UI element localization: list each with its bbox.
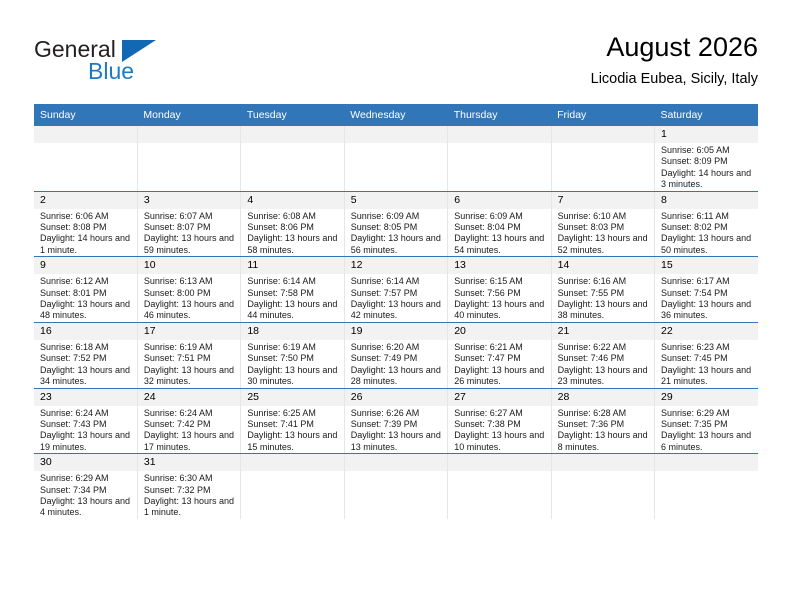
- day-number: 18: [241, 323, 343, 340]
- day-number: 12: [345, 257, 447, 274]
- calendar-week-row: 30Sunrise: 6:29 AMSunset: 7:34 PMDayligh…: [34, 454, 758, 519]
- sunset-text: Sunset: 7:49 PM: [351, 353, 443, 364]
- calendar-day-cell-empty: [34, 126, 137, 191]
- sunset-text: Sunset: 7:54 PM: [661, 288, 754, 299]
- weekday-header-saturday: Saturday: [655, 104, 758, 126]
- calendar-day-cell[interactable]: 14Sunrise: 6:16 AMSunset: 7:55 PMDayligh…: [551, 257, 654, 323]
- sunrise-text: Sunrise: 6:06 AM: [40, 211, 133, 222]
- calendar-day-cell[interactable]: 13Sunrise: 6:15 AMSunset: 7:56 PMDayligh…: [448, 257, 551, 323]
- day-number: 1: [655, 126, 758, 143]
- daylight-text: Daylight: 13 hours and 42 minutes.: [351, 299, 443, 322]
- sunset-text: Sunset: 8:07 PM: [144, 222, 236, 233]
- calendar-day-cell-empty: [241, 454, 344, 519]
- calendar-day-cell-empty: [344, 126, 447, 191]
- calendar-week-row: 1Sunrise: 6:05 AMSunset: 8:09 PMDaylight…: [34, 126, 758, 191]
- day-details: Sunrise: 6:16 AMSunset: 7:55 PMDaylight:…: [552, 274, 654, 322]
- sunrise-text: Sunrise: 6:20 AM: [351, 342, 443, 353]
- sunset-text: Sunset: 8:04 PM: [454, 222, 546, 233]
- sunrise-text: Sunrise: 6:17 AM: [661, 276, 754, 287]
- calendar-day-cell-empty: [137, 126, 240, 191]
- sunset-text: Sunset: 7:50 PM: [247, 353, 339, 364]
- daylight-text: Daylight: 13 hours and 32 minutes.: [144, 365, 236, 388]
- sunrise-text: Sunrise: 6:24 AM: [144, 408, 236, 419]
- daylight-text: Daylight: 14 hours and 3 minutes.: [661, 168, 754, 191]
- sunset-text: Sunset: 7:38 PM: [454, 419, 546, 430]
- day-number: 13: [448, 257, 550, 274]
- sunrise-text: Sunrise: 6:23 AM: [661, 342, 754, 353]
- sunset-text: Sunset: 7:39 PM: [351, 419, 443, 430]
- sunset-text: Sunset: 7:51 PM: [144, 353, 236, 364]
- day-number: 20: [448, 323, 550, 340]
- day-number: 11: [241, 257, 343, 274]
- calendar-day-cell[interactable]: 11Sunrise: 6:14 AMSunset: 7:58 PMDayligh…: [241, 257, 344, 323]
- page-title: August 2026: [591, 30, 758, 64]
- sunset-text: Sunset: 7:35 PM: [661, 419, 754, 430]
- calendar-day-cell-empty: [551, 126, 654, 191]
- sunset-text: Sunset: 7:52 PM: [40, 353, 133, 364]
- sunset-text: Sunset: 7:46 PM: [558, 353, 650, 364]
- daylight-text: Daylight: 13 hours and 6 minutes.: [661, 430, 754, 453]
- sunset-text: Sunset: 8:02 PM: [661, 222, 754, 233]
- day-details: Sunrise: 6:21 AMSunset: 7:47 PMDaylight:…: [448, 340, 550, 388]
- sunrise-text: Sunrise: 6:27 AM: [454, 408, 546, 419]
- sunrise-text: Sunrise: 6:08 AM: [247, 211, 339, 222]
- calendar-day-cell[interactable]: 4Sunrise: 6:08 AMSunset: 8:06 PMDaylight…: [241, 191, 344, 257]
- day-details: Sunrise: 6:30 AMSunset: 7:32 PMDaylight:…: [138, 471, 240, 519]
- day-number: 28: [552, 389, 654, 406]
- logo-text-blue: Blue: [88, 58, 134, 85]
- sunset-text: Sunset: 7:43 PM: [40, 419, 133, 430]
- day-details: Sunrise: 6:14 AMSunset: 7:57 PMDaylight:…: [345, 274, 447, 322]
- calendar-day-cell[interactable]: 1Sunrise: 6:05 AMSunset: 8:09 PMDaylight…: [655, 126, 758, 191]
- sunrise-text: Sunrise: 6:07 AM: [144, 211, 236, 222]
- day-number: 2: [34, 192, 137, 209]
- day-number: 22: [655, 323, 758, 340]
- day-details: Sunrise: 6:24 AMSunset: 7:43 PMDaylight:…: [34, 406, 137, 454]
- day-number: [655, 454, 758, 471]
- day-details: Sunrise: 6:07 AMSunset: 8:07 PMDaylight:…: [138, 209, 240, 257]
- day-details: Sunrise: 6:18 AMSunset: 7:52 PMDaylight:…: [34, 340, 137, 388]
- day-details: Sunrise: 6:05 AMSunset: 8:09 PMDaylight:…: [655, 143, 758, 191]
- calendar-day-cell[interactable]: 12Sunrise: 6:14 AMSunset: 7:57 PMDayligh…: [344, 257, 447, 323]
- calendar-day-cell-empty: [551, 454, 654, 519]
- daylight-text: Daylight: 13 hours and 48 minutes.: [40, 299, 133, 322]
- daylight-text: Daylight: 13 hours and 4 minutes.: [40, 496, 133, 519]
- sunset-text: Sunset: 7:57 PM: [351, 288, 443, 299]
- calendar-body: 1Sunrise: 6:05 AMSunset: 8:09 PMDaylight…: [34, 126, 758, 519]
- sunrise-text: Sunrise: 6:29 AM: [40, 473, 133, 484]
- day-details: Sunrise: 6:10 AMSunset: 8:03 PMDaylight:…: [552, 209, 654, 257]
- sunrise-text: Sunrise: 6:22 AM: [558, 342, 650, 353]
- calendar-day-cell[interactable]: 30Sunrise: 6:29 AMSunset: 7:34 PMDayligh…: [34, 454, 137, 519]
- calendar-day-cell[interactable]: 24Sunrise: 6:24 AMSunset: 7:42 PMDayligh…: [137, 388, 240, 454]
- sunset-text: Sunset: 7:45 PM: [661, 353, 754, 364]
- daylight-text: Daylight: 13 hours and 58 minutes.: [247, 233, 339, 256]
- day-number: 25: [241, 389, 343, 406]
- calendar-day-cell[interactable]: 5Sunrise: 6:09 AMSunset: 8:05 PMDaylight…: [344, 191, 447, 257]
- sunset-text: Sunset: 7:42 PM: [144, 419, 236, 430]
- calendar-day-cell[interactable]: 16Sunrise: 6:18 AMSunset: 7:52 PMDayligh…: [34, 322, 137, 388]
- day-number: 17: [138, 323, 240, 340]
- daylight-text: Daylight: 13 hours and 54 minutes.: [454, 233, 546, 256]
- calendar-day-cell[interactable]: 28Sunrise: 6:28 AMSunset: 7:36 PMDayligh…: [551, 388, 654, 454]
- sunrise-text: Sunrise: 6:09 AM: [351, 211, 443, 222]
- sunrise-text: Sunrise: 6:09 AM: [454, 211, 546, 222]
- calendar-week-row: 9Sunrise: 6:12 AMSunset: 8:01 PMDaylight…: [34, 257, 758, 323]
- day-number: [448, 126, 550, 143]
- day-details: Sunrise: 6:09 AMSunset: 8:04 PMDaylight:…: [448, 209, 550, 257]
- sunrise-text: Sunrise: 6:15 AM: [454, 276, 546, 287]
- sunrise-text: Sunrise: 6:21 AM: [454, 342, 546, 353]
- day-details: Sunrise: 6:24 AMSunset: 7:42 PMDaylight:…: [138, 406, 240, 454]
- calendar-day-cell[interactable]: 20Sunrise: 6:21 AMSunset: 7:47 PMDayligh…: [448, 322, 551, 388]
- daylight-text: Daylight: 13 hours and 46 minutes.: [144, 299, 236, 322]
- day-details: Sunrise: 6:22 AMSunset: 7:46 PMDaylight:…: [552, 340, 654, 388]
- day-number: 21: [552, 323, 654, 340]
- day-number: 29: [655, 389, 758, 406]
- sunset-text: Sunset: 7:36 PM: [558, 419, 650, 430]
- sunset-text: Sunset: 8:03 PM: [558, 222, 650, 233]
- page-subtitle: Licodia Eubea, Sicily, Italy: [591, 68, 758, 90]
- sunrise-text: Sunrise: 6:16 AM: [558, 276, 650, 287]
- daylight-text: Daylight: 13 hours and 44 minutes.: [247, 299, 339, 322]
- weekday-header-sunday: Sunday: [34, 104, 137, 126]
- sunset-text: Sunset: 8:09 PM: [661, 156, 754, 167]
- sunrise-text: Sunrise: 6:14 AM: [351, 276, 443, 287]
- day-number: [345, 126, 447, 143]
- weekday-header-thursday: Thursday: [448, 104, 551, 126]
- day-details: Sunrise: 6:09 AMSunset: 8:05 PMDaylight:…: [345, 209, 447, 257]
- day-details: Sunrise: 6:29 AMSunset: 7:34 PMDaylight:…: [34, 471, 137, 519]
- daylight-text: Daylight: 14 hours and 1 minute.: [40, 233, 133, 256]
- calendar-day-cell[interactable]: 22Sunrise: 6:23 AMSunset: 7:45 PMDayligh…: [655, 322, 758, 388]
- sunrise-text: Sunrise: 6:19 AM: [247, 342, 339, 353]
- day-number: 4: [241, 192, 343, 209]
- day-number: 31: [138, 454, 240, 471]
- calendar-day-cell[interactable]: 29Sunrise: 6:29 AMSunset: 7:35 PMDayligh…: [655, 388, 758, 454]
- sunset-text: Sunset: 7:58 PM: [247, 288, 339, 299]
- calendar-day-cell[interactable]: 9Sunrise: 6:12 AMSunset: 8:01 PMDaylight…: [34, 257, 137, 323]
- day-details: Sunrise: 6:27 AMSunset: 7:38 PMDaylight:…: [448, 406, 550, 454]
- sunrise-text: Sunrise: 6:13 AM: [144, 276, 236, 287]
- weekday-header-monday: Monday: [137, 104, 240, 126]
- daylight-text: Daylight: 13 hours and 40 minutes.: [454, 299, 546, 322]
- day-details: Sunrise: 6:06 AMSunset: 8:08 PMDaylight:…: [34, 209, 137, 257]
- daylight-text: Daylight: 13 hours and 8 minutes.: [558, 430, 650, 453]
- sunset-text: Sunset: 8:05 PM: [351, 222, 443, 233]
- sunset-text: Sunset: 7:34 PM: [40, 485, 133, 496]
- sunrise-text: Sunrise: 6:30 AM: [144, 473, 236, 484]
- sunrise-text: Sunrise: 6:11 AM: [661, 211, 754, 222]
- sunrise-text: Sunrise: 6:10 AM: [558, 211, 650, 222]
- calendar-day-cell[interactable]: 15Sunrise: 6:17 AMSunset: 7:54 PMDayligh…: [655, 257, 758, 323]
- daylight-text: Daylight: 13 hours and 34 minutes.: [40, 365, 133, 388]
- weekday-header-wednesday: Wednesday: [344, 104, 447, 126]
- day-details: Sunrise: 6:29 AMSunset: 7:35 PMDaylight:…: [655, 406, 758, 454]
- day-number: 19: [345, 323, 447, 340]
- daylight-text: Daylight: 13 hours and 13 minutes.: [351, 430, 443, 453]
- sunset-text: Sunset: 7:56 PM: [454, 288, 546, 299]
- day-number: 3: [138, 192, 240, 209]
- daylight-text: Daylight: 13 hours and 38 minutes.: [558, 299, 650, 322]
- day-details: Sunrise: 6:28 AMSunset: 7:36 PMDaylight:…: [552, 406, 654, 454]
- sunset-text: Sunset: 7:55 PM: [558, 288, 650, 299]
- day-number: [241, 126, 343, 143]
- calendar-week-row: 2Sunrise: 6:06 AMSunset: 8:08 PMDaylight…: [34, 191, 758, 257]
- day-number: 15: [655, 257, 758, 274]
- calendar-week-row: 23Sunrise: 6:24 AMSunset: 7:43 PMDayligh…: [34, 388, 758, 454]
- general-blue-logo: General Blue: [34, 36, 234, 92]
- day-number: 5: [345, 192, 447, 209]
- calendar-day-cell[interactable]: 26Sunrise: 6:26 AMSunset: 7:39 PMDayligh…: [344, 388, 447, 454]
- day-number: 7: [552, 192, 654, 209]
- day-number: 30: [34, 454, 137, 471]
- sunset-text: Sunset: 7:47 PM: [454, 353, 546, 364]
- page-header: General Blue August 2026 Licodia Eubea, …: [34, 30, 758, 98]
- sunset-text: Sunset: 8:01 PM: [40, 288, 133, 299]
- sunset-text: Sunset: 8:08 PM: [40, 222, 133, 233]
- sunrise-text: Sunrise: 6:19 AM: [144, 342, 236, 353]
- day-number: [138, 126, 240, 143]
- day-number: 16: [34, 323, 137, 340]
- day-number: [34, 126, 137, 143]
- calendar-day-cell[interactable]: 17Sunrise: 6:19 AMSunset: 7:51 PMDayligh…: [137, 322, 240, 388]
- daylight-text: Daylight: 13 hours and 10 minutes.: [454, 430, 546, 453]
- calendar-day-cell[interactable]: 6Sunrise: 6:09 AMSunset: 8:04 PMDaylight…: [448, 191, 551, 257]
- calendar-day-cell-empty: [448, 454, 551, 519]
- daylight-text: Daylight: 13 hours and 26 minutes.: [454, 365, 546, 388]
- day-number: 24: [138, 389, 240, 406]
- day-number: 6: [448, 192, 550, 209]
- daylight-text: Daylight: 13 hours and 59 minutes.: [144, 233, 236, 256]
- day-number: [241, 454, 343, 471]
- calendar-day-cell[interactable]: 3Sunrise: 6:07 AMSunset: 8:07 PMDaylight…: [137, 191, 240, 257]
- sunrise-text: Sunrise: 6:26 AM: [351, 408, 443, 419]
- day-number: 10: [138, 257, 240, 274]
- day-details: Sunrise: 6:17 AMSunset: 7:54 PMDaylight:…: [655, 274, 758, 322]
- day-details: Sunrise: 6:20 AMSunset: 7:49 PMDaylight:…: [345, 340, 447, 388]
- sunset-text: Sunset: 8:00 PM: [144, 288, 236, 299]
- title-block: August 2026 Licodia Eubea, Sicily, Italy: [591, 30, 758, 90]
- daylight-text: Daylight: 13 hours and 28 minutes.: [351, 365, 443, 388]
- daylight-text: Daylight: 13 hours and 19 minutes.: [40, 430, 133, 453]
- day-number: [345, 454, 447, 471]
- sunset-text: Sunset: 7:41 PM: [247, 419, 339, 430]
- sunrise-text: Sunrise: 6:05 AM: [661, 145, 754, 156]
- daylight-text: Daylight: 13 hours and 17 minutes.: [144, 430, 236, 453]
- sunset-text: Sunset: 7:32 PM: [144, 485, 236, 496]
- day-number: [552, 126, 654, 143]
- day-details: Sunrise: 6:12 AMSunset: 8:01 PMDaylight:…: [34, 274, 137, 322]
- daylight-text: Daylight: 13 hours and 23 minutes.: [558, 365, 650, 388]
- day-number: [448, 454, 550, 471]
- sunset-text: Sunset: 8:06 PM: [247, 222, 339, 233]
- sunrise-text: Sunrise: 6:25 AM: [247, 408, 339, 419]
- day-number: 27: [448, 389, 550, 406]
- day-details: Sunrise: 6:08 AMSunset: 8:06 PMDaylight:…: [241, 209, 343, 257]
- sunrise-text: Sunrise: 6:18 AM: [40, 342, 133, 353]
- calendar-page: General Blue August 2026 Licodia Eubea, …: [0, 0, 792, 612]
- daylight-text: Daylight: 13 hours and 56 minutes.: [351, 233, 443, 256]
- calendar-day-cell[interactable]: 27Sunrise: 6:27 AMSunset: 7:38 PMDayligh…: [448, 388, 551, 454]
- calendar-day-cell[interactable]: 31Sunrise: 6:30 AMSunset: 7:32 PMDayligh…: [137, 454, 240, 519]
- day-details: Sunrise: 6:26 AMSunset: 7:39 PMDaylight:…: [345, 406, 447, 454]
- sunrise-text: Sunrise: 6:12 AM: [40, 276, 133, 287]
- sunrise-text: Sunrise: 6:14 AM: [247, 276, 339, 287]
- calendar-day-cell[interactable]: 7Sunrise: 6:10 AMSunset: 8:03 PMDaylight…: [551, 191, 654, 257]
- calendar-day-cell[interactable]: 19Sunrise: 6:20 AMSunset: 7:49 PMDayligh…: [344, 322, 447, 388]
- day-number: 23: [34, 389, 137, 406]
- sunrise-text: Sunrise: 6:24 AM: [40, 408, 133, 419]
- calendar-day-cell[interactable]: 23Sunrise: 6:24 AMSunset: 7:43 PMDayligh…: [34, 388, 137, 454]
- calendar-week-row: 16Sunrise: 6:18 AMSunset: 7:52 PMDayligh…: [34, 322, 758, 388]
- day-details: Sunrise: 6:23 AMSunset: 7:45 PMDaylight:…: [655, 340, 758, 388]
- calendar-day-cell[interactable]: 10Sunrise: 6:13 AMSunset: 8:00 PMDayligh…: [137, 257, 240, 323]
- daylight-text: Daylight: 13 hours and 50 minutes.: [661, 233, 754, 256]
- day-details: Sunrise: 6:11 AMSunset: 8:02 PMDaylight:…: [655, 209, 758, 257]
- calendar-day-cell[interactable]: 2Sunrise: 6:06 AMSunset: 8:08 PMDaylight…: [34, 191, 137, 257]
- sunrise-sunset-calendar-table: Sunday Monday Tuesday Wednesday Thursday…: [34, 104, 758, 519]
- day-number: 9: [34, 257, 137, 274]
- daylight-text: Daylight: 13 hours and 21 minutes.: [661, 365, 754, 388]
- daylight-text: Daylight: 13 hours and 30 minutes.: [247, 365, 339, 388]
- day-number: 26: [345, 389, 447, 406]
- daylight-text: Daylight: 13 hours and 52 minutes.: [558, 233, 650, 256]
- day-details: Sunrise: 6:19 AMSunset: 7:50 PMDaylight:…: [241, 340, 343, 388]
- calendar-day-cell-empty: [655, 454, 758, 519]
- daylight-text: Daylight: 13 hours and 36 minutes.: [661, 299, 754, 322]
- calendar-day-cell[interactable]: 18Sunrise: 6:19 AMSunset: 7:50 PMDayligh…: [241, 322, 344, 388]
- day-details: Sunrise: 6:19 AMSunset: 7:51 PMDaylight:…: [138, 340, 240, 388]
- day-details: Sunrise: 6:13 AMSunset: 8:00 PMDaylight:…: [138, 274, 240, 322]
- sunrise-text: Sunrise: 6:28 AM: [558, 408, 650, 419]
- day-details: Sunrise: 6:25 AMSunset: 7:41 PMDaylight:…: [241, 406, 343, 454]
- weekday-header-tuesday: Tuesday: [241, 104, 344, 126]
- calendar-header-row: Sunday Monday Tuesday Wednesday Thursday…: [34, 104, 758, 126]
- calendar-day-cell[interactable]: 25Sunrise: 6:25 AMSunset: 7:41 PMDayligh…: [241, 388, 344, 454]
- calendar-day-cell-empty: [241, 126, 344, 191]
- calendar-day-cell-empty: [344, 454, 447, 519]
- daylight-text: Daylight: 13 hours and 15 minutes.: [247, 430, 339, 453]
- day-details: Sunrise: 6:15 AMSunset: 7:56 PMDaylight:…: [448, 274, 550, 322]
- calendar-day-cell[interactable]: 8Sunrise: 6:11 AMSunset: 8:02 PMDaylight…: [655, 191, 758, 257]
- weekday-header-row: Sunday Monday Tuesday Wednesday Thursday…: [34, 104, 758, 126]
- calendar-day-cell-empty: [448, 126, 551, 191]
- day-number: [552, 454, 654, 471]
- weekday-header-friday: Friday: [551, 104, 654, 126]
- daylight-text: Daylight: 13 hours and 1 minute.: [144, 496, 236, 519]
- calendar-day-cell[interactable]: 21Sunrise: 6:22 AMSunset: 7:46 PMDayligh…: [551, 322, 654, 388]
- day-number: 8: [655, 192, 758, 209]
- sunrise-text: Sunrise: 6:29 AM: [661, 408, 754, 419]
- day-number: 14: [552, 257, 654, 274]
- day-details: Sunrise: 6:14 AMSunset: 7:58 PMDaylight:…: [241, 274, 343, 322]
